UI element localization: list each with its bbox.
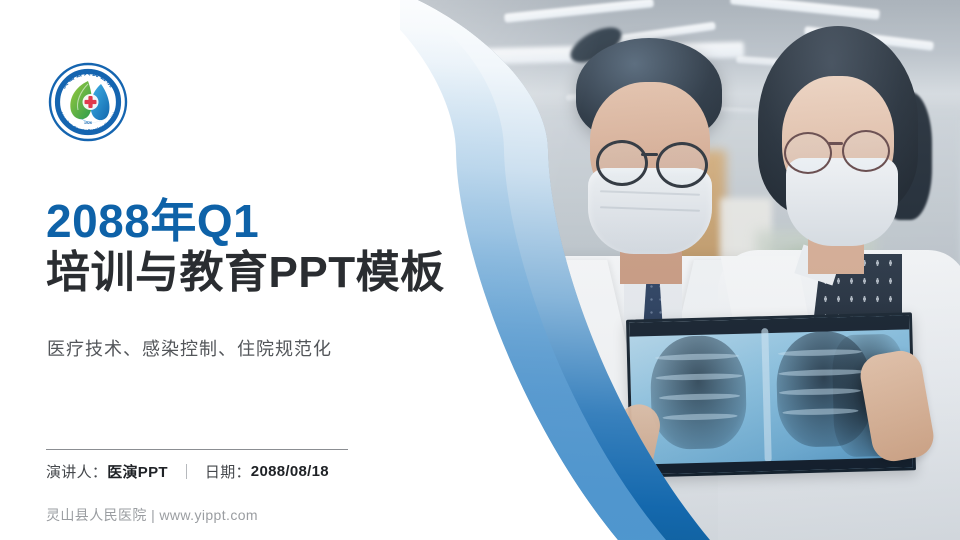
date-value: 2088/08/18 xyxy=(251,463,329,480)
glasses-bridge xyxy=(641,153,658,156)
xray-edge-top xyxy=(629,315,909,336)
meta-separator xyxy=(186,464,187,479)
female-doctor-glasses-left xyxy=(784,132,832,174)
title-slide: 1926 灵山县人民医院 Lingshan County People's Ho… xyxy=(0,0,960,540)
xray-lung-left xyxy=(649,335,747,450)
hand-holding-xray-left xyxy=(606,401,664,488)
male-doctor-pocket xyxy=(546,400,608,403)
date-label: 日期： xyxy=(205,461,251,482)
divider-line xyxy=(46,449,348,450)
title-line-1: 2088年Q1 xyxy=(46,196,466,247)
xray-spine xyxy=(761,328,771,462)
male-doctor-glasses-right xyxy=(656,142,708,188)
page-title: 2088年Q1 培训与教育PPT模板 xyxy=(46,196,466,299)
hospital-logo: 1926 灵山县人民医院 Lingshan County People's Ho… xyxy=(48,62,128,142)
male-doctor-glasses-left xyxy=(596,140,648,186)
presenter-meta: 演讲人： 医演PPT 日期： 2088/08/18 xyxy=(46,461,329,482)
presenter-value: 医演PPT xyxy=(107,461,168,482)
presenter-label: 演讲人： xyxy=(46,461,107,482)
subtitle: 医疗技术、感染控制、住院规范化 xyxy=(47,335,332,361)
title-line-2: 培训与教育PPT模板 xyxy=(46,247,466,299)
glasses-bridge xyxy=(828,142,843,145)
female-doctor-glasses-right xyxy=(842,130,890,172)
footer-credit: 灵山县人民医院 | www.yippt.com xyxy=(46,505,258,525)
logo-founded-year: 1926 xyxy=(84,121,92,125)
doctors-reviewing-xray-photo xyxy=(400,0,960,540)
